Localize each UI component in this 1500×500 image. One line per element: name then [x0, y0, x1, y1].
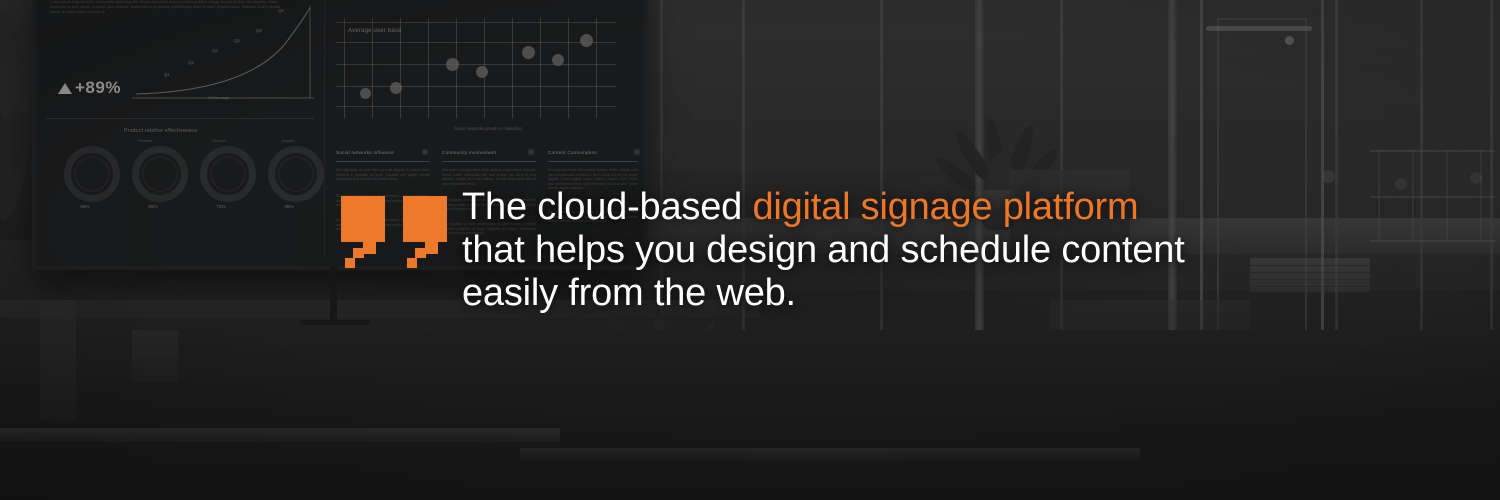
- scatter-caption: Social Networks growth in marketing: [454, 126, 522, 131]
- gauge-4-value: 45%: [268, 204, 310, 209]
- pedestal: [40, 300, 76, 420]
- gauge-sublabel-3: Impact: [282, 138, 294, 143]
- growth-stat-value: +89%: [75, 78, 121, 98]
- gauge-3: [200, 146, 256, 202]
- scatter-point: [522, 46, 535, 59]
- headline-line-1: The cloud-based digital signage platform: [462, 186, 1222, 229]
- point-label-q6: Q6: [278, 8, 284, 13]
- gauge-sublabel-1: Relative: [138, 138, 152, 143]
- scatter-chart-panel: Average user base: [336, 18, 622, 118]
- side-value-2: +18: [588, 0, 618, 1]
- column-1-p1: Sed adipiscing sit amet dolor sit amet t…: [336, 168, 430, 182]
- column-2-p1: Sed lorem a feugiat tellus nulla dapibus…: [442, 168, 536, 186]
- display-stand: [330, 266, 337, 322]
- scatter-point: [446, 58, 459, 71]
- column-3-indicator: [634, 149, 640, 155]
- scatter-point: [390, 82, 402, 94]
- column-3-title: Content Consumption: [548, 150, 597, 155]
- point-label-q2: Q2: [188, 60, 194, 65]
- scatter-point: [360, 88, 371, 99]
- gauges-title: Product relative effectiveness: [124, 128, 198, 134]
- gauge-1: [64, 146, 120, 202]
- gauge-4: [268, 146, 324, 202]
- column-2-title: Community involvement: [442, 150, 496, 155]
- quotation-mark-icon: [341, 196, 385, 268]
- column-1-title: Social networks influence: [336, 150, 394, 155]
- scatter-point: [580, 34, 593, 47]
- column-1-indicator: [422, 149, 428, 155]
- point-label-q3: Q3: [212, 48, 218, 53]
- gauge-3-value: 72%: [200, 204, 242, 209]
- quotation-marks: [341, 196, 447, 268]
- point-label-q5: Q5: [256, 28, 262, 33]
- triangle-up-icon: [58, 83, 72, 94]
- growth-axis-caption: Similar range: [208, 96, 229, 100]
- headline-line-3: easily from the web.: [462, 272, 1222, 315]
- paper-stack-shelf: [1250, 258, 1370, 292]
- column-2-indicator: [528, 149, 534, 155]
- headline-line-2: that helps you design and schedule conte…: [462, 229, 1222, 272]
- hero-banner: Lorem ipsum dolor sit amet, consectetur …: [0, 0, 1500, 500]
- quotation-mark-icon: [403, 196, 447, 268]
- headline-prefix: The cloud-based: [462, 186, 752, 228]
- growth-stat: +89%: [58, 78, 121, 98]
- scatter-point: [552, 54, 564, 66]
- point-label-q4: Q4: [234, 38, 240, 43]
- gauge-1-value: 59%: [64, 204, 106, 209]
- headline-accent: digital signage platform: [752, 186, 1138, 228]
- hero-headline: The cloud-based digital signage platform…: [462, 186, 1222, 315]
- gauge-2-value: 65%: [132, 204, 174, 209]
- point-label-q1: Q1: [164, 72, 170, 77]
- growth-chart-panel: Lorem ipsum dolor sit amet, consectetur …: [36, 0, 316, 108]
- display-foot: [300, 320, 370, 325]
- scatter-title: Average user base: [348, 28, 402, 34]
- desk-item: [132, 330, 178, 382]
- gauge-2: [132, 146, 188, 202]
- gauge-sublabel-2: Second: [212, 138, 226, 143]
- scatter-point: [476, 66, 488, 78]
- growth-curve: [132, 6, 318, 102]
